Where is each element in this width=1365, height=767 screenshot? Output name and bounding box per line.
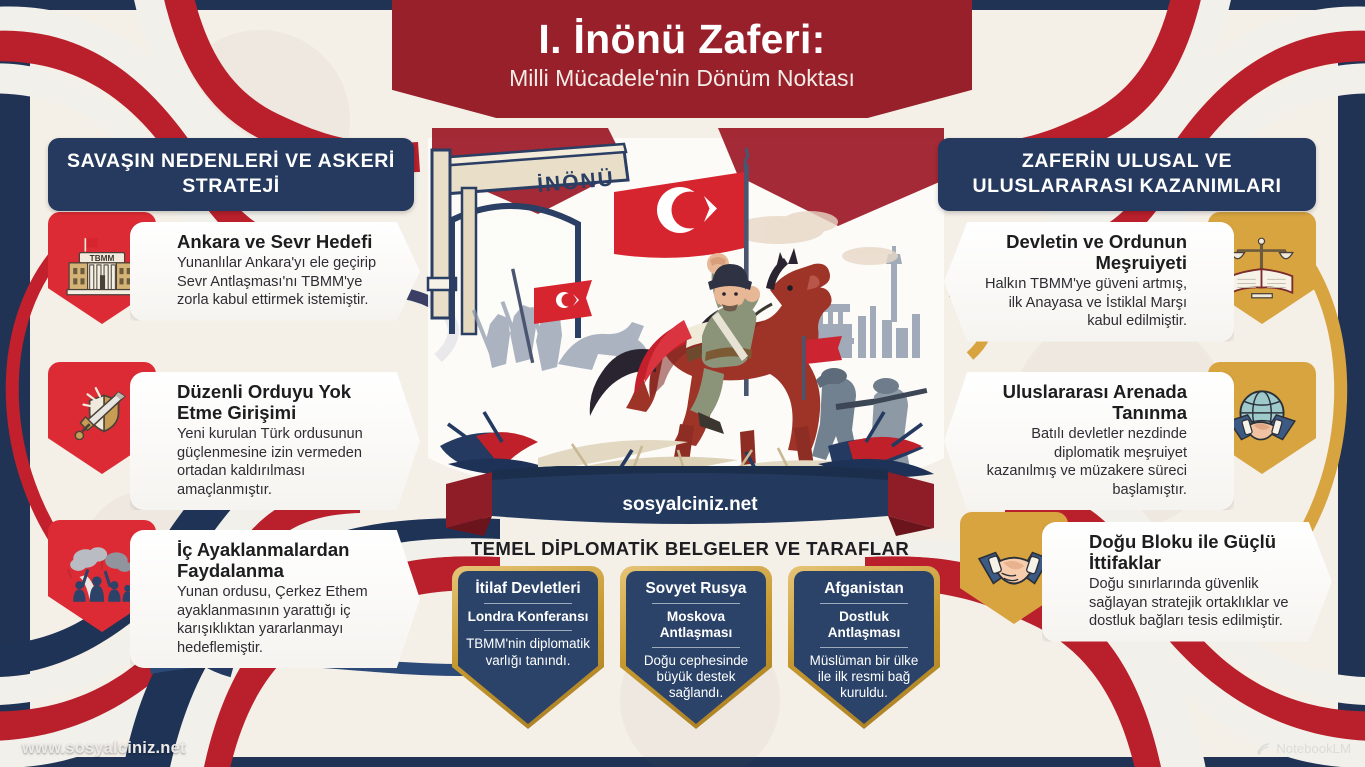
badge-inner: İtilaf Devletleri Londra Konferansı TBMM… [458, 571, 598, 724]
left-column-header: SAVAŞIN NEDENLERİ VE ASKERİ STRATEJİ [48, 138, 414, 211]
svg-text:TBMM: TBMM [90, 254, 115, 263]
cause-card-ankara-sevr[interactable]: TBMM Ankara ve Sevr Hedefi [48, 212, 422, 330]
title-banner: I. İnönü Zaferi: Milli Mücadele'nin Dönü… [392, 0, 972, 118]
page-subtitle: Milli Mücadele'nin Dönüm Noktası [392, 64, 972, 92]
ribbon-site-name: sosyalciniz.net [440, 494, 940, 516]
card-title: Düzenli Orduyu Yok Etme Girişimi [177, 381, 380, 423]
badge-party: İtilaf Devletleri [466, 580, 590, 598]
gain-card-legitimacy[interactable]: Devletin ve Ordunun Meşruiyeti Halkın TB… [944, 212, 1316, 330]
badge-divider-2 [652, 647, 740, 648]
card-title: Ankara ve Sevr Hedefi [177, 231, 380, 252]
cause-card-destroy-army[interactable]: Düzenli Orduyu Yok Etme Girişimi Yeni ku… [48, 362, 422, 480]
card-body: Düzenli Orduyu Yok Etme Girişimi Yeni ku… [130, 372, 420, 510]
diplomacy-badge-soviet-russia[interactable]: Sovyet Rusya Moskova Antlaşması Doğu cep… [620, 566, 772, 729]
card-text: Doğu sınırlarında güvenlik sağlayan stra… [1089, 575, 1292, 631]
badge-party: Afganistan [802, 580, 926, 598]
badge-divider-1 [484, 603, 572, 604]
watermark-notebooklm: NotebookLM [1256, 741, 1351, 756]
notebooklm-label: NotebookLM [1276, 741, 1351, 756]
card-text: Halkın TBMM'ye güveni artmış, ilk Anayas… [984, 275, 1187, 331]
badge-outcome: TBMM'nin diplomatik varlığı tanındı. [466, 636, 590, 668]
right-column-header: ZAFERİN ULUSAL VE ULUSLARARASI KAZANIMLA… [938, 138, 1316, 211]
badge-party: Sovyet Rusya [634, 580, 758, 598]
badge-inner: Afganistan Dostluk Antlaşması Müslüman b… [794, 571, 934, 724]
notebooklm-signal-icon [1256, 742, 1271, 755]
page-title: I. İnönü Zaferi: [392, 16, 972, 62]
card-title: İç Ayaklanmalardan Faydalanma [177, 539, 380, 581]
diplomacy-badge-entente[interactable]: İtilaf Devletleri Londra Konferansı TBMM… [452, 566, 604, 729]
card-body: Devletin ve Ordunun Meşruiyeti Halkın TB… [944, 222, 1234, 342]
infographic-canvas: I. İnönü Zaferi: Milli Mücadele'nin Dönü… [0, 0, 1365, 767]
card-text: Batılı devletler nezdinde diplomatik meş… [984, 425, 1187, 499]
badge-divider-2 [484, 630, 572, 631]
card-title: Devletin ve Ordunun Meşruiyeti [984, 231, 1187, 273]
badge-outcome: Müslüman bir ülke ile ilk resmi bağ kuru… [802, 653, 926, 702]
card-body: İç Ayaklanmalardan Faydalanma Yunan ordu… [130, 530, 420, 668]
card-body: Doğu Bloku ile Güçlü İttifaklar Doğu sın… [1042, 522, 1332, 642]
badge-document: Londra Konferansı [466, 609, 590, 625]
card-text: Yunan ordusu, Çerkez Ethem ayaklanmasını… [177, 583, 380, 657]
gain-card-international-recognition[interactable]: Uluslararası Arenada Tanınma Batılı devl… [944, 362, 1316, 480]
badge-divider-1 [652, 603, 740, 604]
badge-divider-1 [820, 603, 908, 604]
badge-document: Moskova Antlaşması [634, 609, 758, 642]
cause-card-internal-uprisings[interactable]: İç Ayaklanmalardan Faydalanma Yunan ordu… [48, 520, 422, 642]
card-text: Yunanlılar Ankara'yı ele geçirip Sevr An… [177, 254, 380, 310]
card-body: Uluslararası Arenada Tanınma Batılı devl… [944, 372, 1234, 510]
watermark-site-url: www.sosyalciniz.net [22, 739, 186, 758]
diplomacy-badge-afghanistan[interactable]: Afganistan Dostluk Antlaşması Müslüman b… [788, 566, 940, 729]
badge-divider-2 [820, 647, 908, 648]
badge-document: Dostluk Antlaşması [802, 609, 926, 642]
gain-card-eastern-alliances[interactable]: Doğu Bloku ile Güçlü İttifaklar Doğu sın… [960, 512, 1332, 634]
badge-inner: Sovyet Rusya Moskova Antlaşması Doğu cep… [626, 571, 766, 724]
card-body: Ankara ve Sevr Hedefi Yunanlılar Ankara'… [130, 222, 420, 321]
card-title: Uluslararası Arenada Tanınma [984, 381, 1187, 423]
card-title: Doğu Bloku ile Güçlü İttifaklar [1089, 531, 1292, 573]
badge-outcome: Doğu cephesinde büyük destek sağlandı. [634, 653, 758, 702]
inonu-victory-illustration: İNÖNÜ [418, 128, 954, 518]
card-text: Yeni kurulan Türk ordusunun güçlenmesine… [177, 425, 380, 499]
